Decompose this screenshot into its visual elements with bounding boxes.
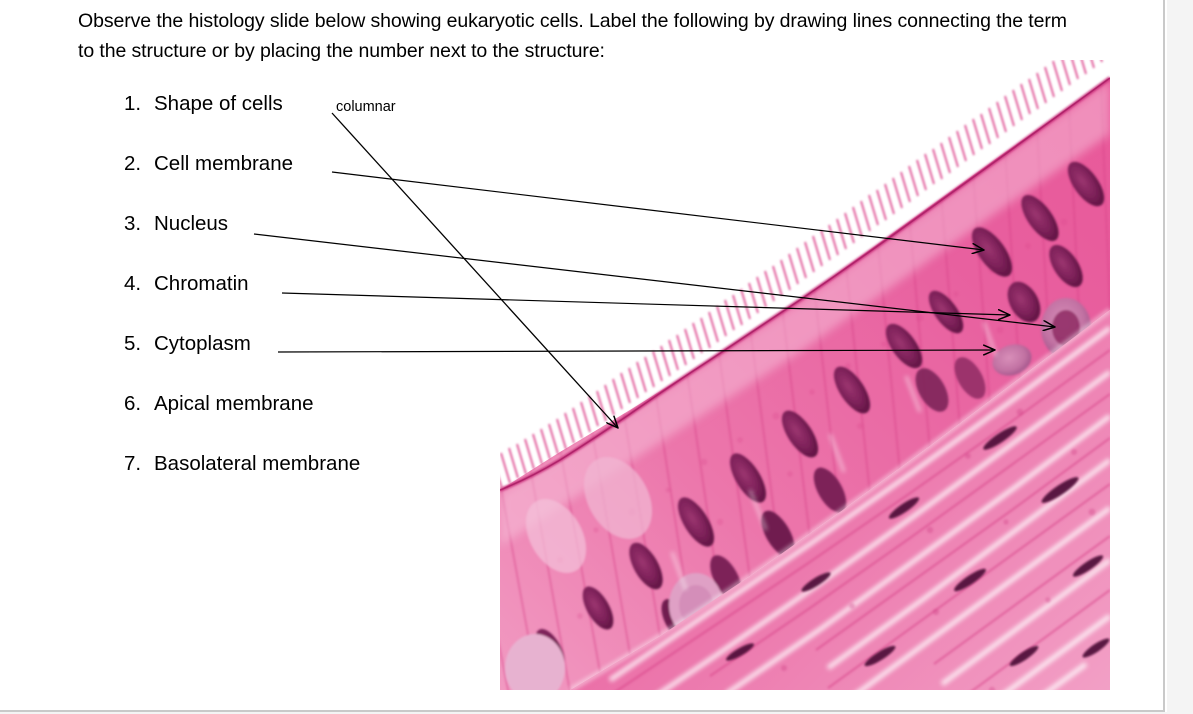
list-item: 6.Apical membrane (124, 392, 524, 452)
columnar-annotation: columnar (336, 99, 396, 115)
page-right-rail (1167, 0, 1193, 714)
list-item-label: Basolateral membrane (154, 452, 360, 475)
list-item: 5.Cytoplasm (124, 332, 524, 392)
list-item-label: Nucleus (154, 212, 228, 235)
list-item-number: 6. (124, 392, 154, 416)
list-item-number: 7. (124, 452, 154, 476)
prompt-line-1: Observe the histology slide below showin… (78, 10, 847, 32)
list-item: 1.Shape of cells (124, 92, 524, 152)
histology-slide-image (500, 60, 1110, 690)
list-item-label: Apical membrane (154, 392, 314, 415)
page-title: Observe the histology slide below showin… (78, 6, 1088, 66)
list-item-number: 4. (124, 272, 154, 296)
list-item-label: Chromatin (154, 272, 249, 295)
list-item-number: 3. (124, 212, 154, 236)
list-item-label: Shape of cells (154, 92, 283, 115)
list-item: 3.Nucleus (124, 212, 524, 272)
list-item-number: 2. (124, 152, 154, 176)
list-item-label: Cytoplasm (154, 332, 251, 355)
list-item: 4.Chromatin (124, 272, 524, 332)
list-item: 2.Cell membrane (124, 152, 524, 212)
document-page: Observe the histology slide below showin… (0, 0, 1165, 712)
list-item: 7.Basolateral membrane (124, 452, 524, 512)
list-item-number: 1. (124, 92, 154, 116)
term-list: 1.Shape of cells 2.Cell membrane 3.Nucle… (124, 92, 524, 512)
list-item-number: 5. (124, 332, 154, 356)
list-item-label: Cell membrane (154, 152, 293, 175)
